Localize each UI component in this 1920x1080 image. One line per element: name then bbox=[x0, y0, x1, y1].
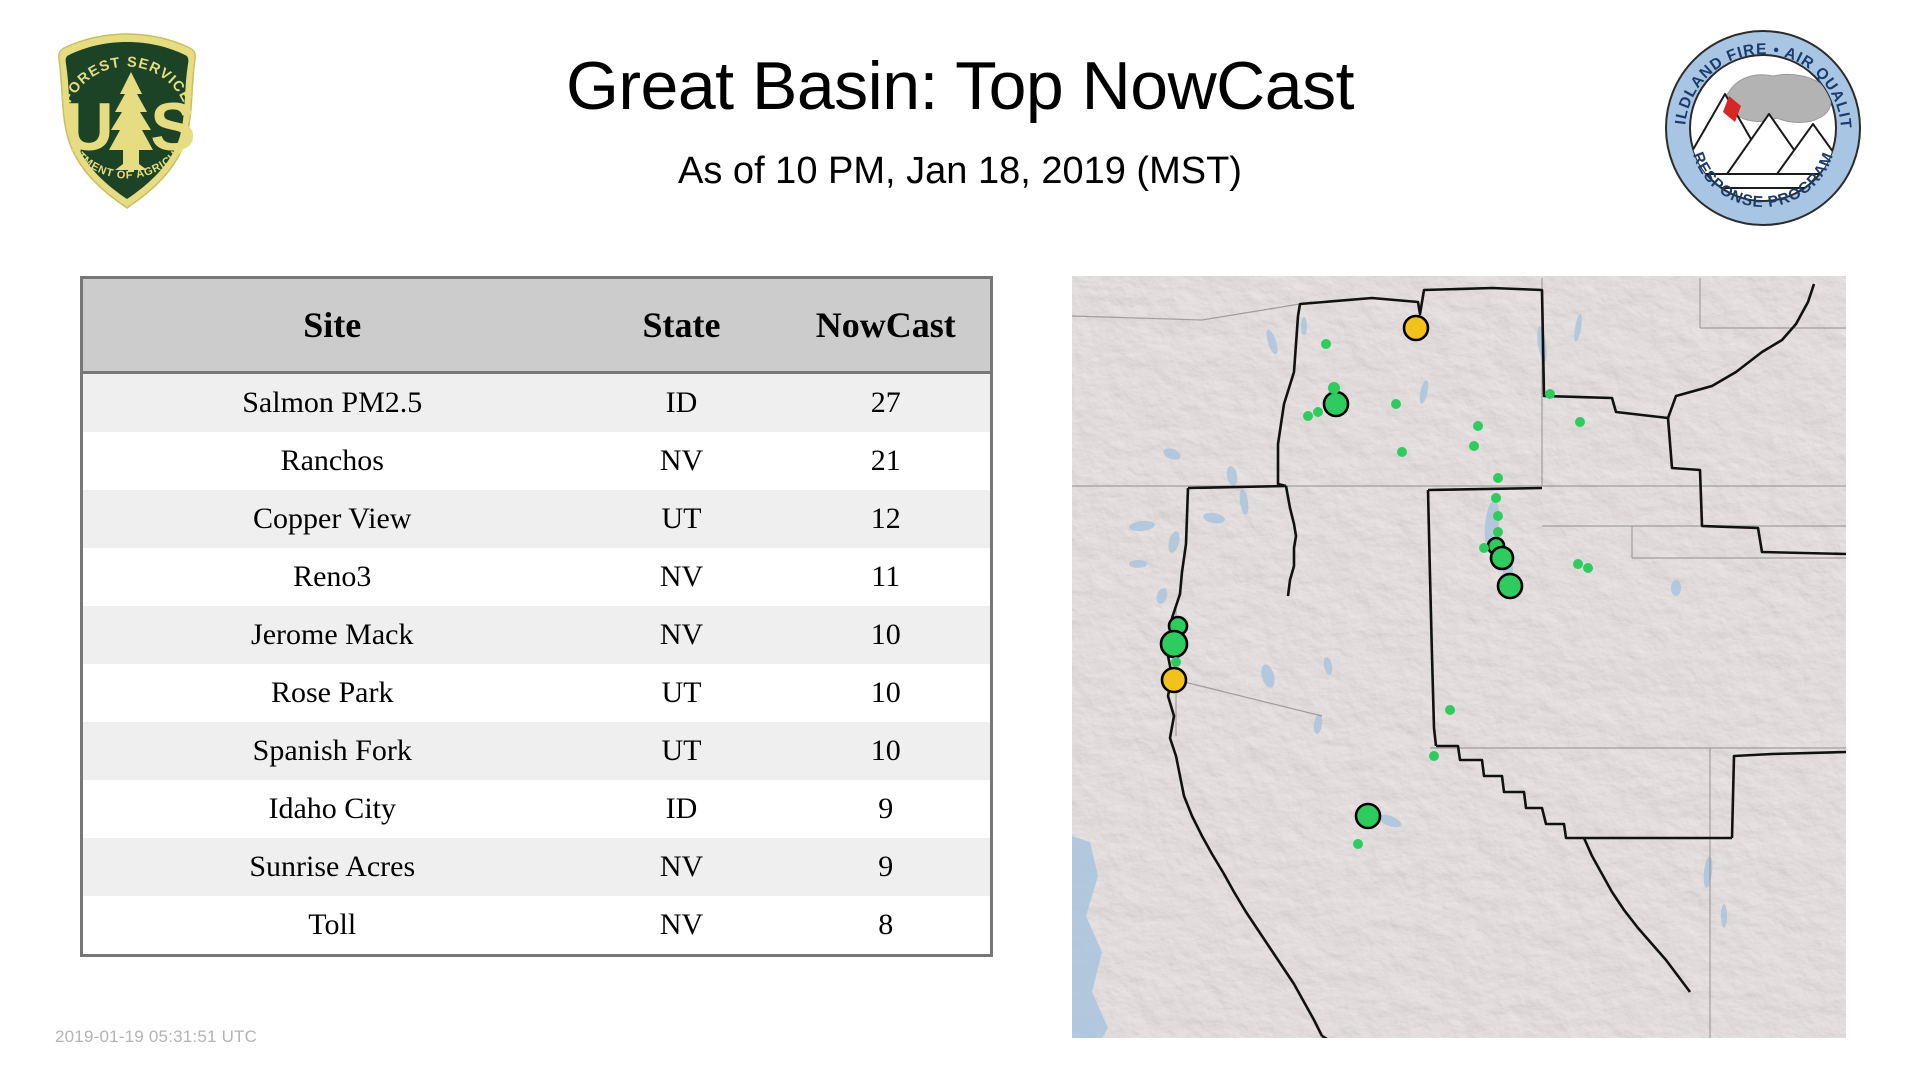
page-subtitle: As of 10 PM, Jan 18, 2019 (MST) bbox=[0, 152, 1920, 190]
monitor-marker-good[interactable] bbox=[1303, 411, 1313, 421]
cell-site: Toll bbox=[82, 896, 582, 956]
cell-nowcast: 10 bbox=[782, 722, 992, 780]
monitor-marker-good[interactable] bbox=[1324, 392, 1348, 416]
table-row: RanchosNV21 bbox=[82, 432, 992, 490]
monitor-marker-good[interactable] bbox=[1491, 547, 1513, 569]
cell-site: Salmon PM2.5 bbox=[82, 373, 582, 433]
table-row: Copper ViewUT12 bbox=[82, 490, 992, 548]
table-row: Idaho CityID9 bbox=[82, 780, 992, 838]
cell-nowcast: 9 bbox=[782, 780, 992, 838]
page-title: Great Basin: Top NowCast bbox=[0, 52, 1920, 120]
cell-nowcast: 8 bbox=[782, 896, 992, 956]
monitor-marker-good[interactable] bbox=[1397, 447, 1407, 457]
cell-state: UT bbox=[582, 722, 782, 780]
column-header-site: Site bbox=[82, 278, 582, 373]
footer-timestamp: 2019-01-19 05:31:51 UTC bbox=[55, 1027, 257, 1047]
great-basin-map[interactable] bbox=[1072, 276, 1846, 1038]
table-row: Salmon PM2.5ID27 bbox=[82, 373, 992, 433]
cell-site: Ranchos bbox=[82, 432, 582, 490]
table-row: TollNV8 bbox=[82, 896, 992, 956]
cell-site: Reno3 bbox=[82, 548, 582, 606]
table-body: Salmon PM2.5ID27RanchosNV21Copper ViewUT… bbox=[82, 373, 992, 956]
monitor-marker-good[interactable] bbox=[1391, 399, 1401, 409]
monitor-marker-good[interactable] bbox=[1493, 473, 1503, 483]
monitor-marker-good[interactable] bbox=[1473, 421, 1483, 431]
cell-state: UT bbox=[582, 490, 782, 548]
monitor-marker-good[interactable] bbox=[1356, 804, 1380, 828]
monitor-marker-moderate[interactable] bbox=[1404, 316, 1428, 340]
monitor-marker-good[interactable] bbox=[1321, 339, 1331, 349]
monitor-marker-good[interactable] bbox=[1498, 574, 1522, 598]
cell-state: NV bbox=[582, 606, 782, 664]
monitor-marker-good[interactable] bbox=[1469, 441, 1479, 451]
cell-nowcast: 27 bbox=[782, 373, 992, 433]
cell-nowcast: 10 bbox=[782, 664, 992, 722]
monitor-marker-moderate[interactable] bbox=[1162, 668, 1186, 692]
cell-state: NV bbox=[582, 838, 782, 896]
cell-nowcast: 11 bbox=[782, 548, 992, 606]
monitor-marker-good[interactable] bbox=[1575, 417, 1585, 427]
table-row: Sunrise AcresNV9 bbox=[82, 838, 992, 896]
map-relief-detail bbox=[1072, 276, 1846, 1038]
monitor-marker-good[interactable] bbox=[1353, 839, 1363, 849]
cell-state: NV bbox=[582, 896, 782, 956]
table-row: Reno3NV11 bbox=[82, 548, 992, 606]
column-header-nowcast: NowCast bbox=[782, 278, 992, 373]
monitor-marker-good[interactable] bbox=[1493, 527, 1503, 537]
cell-site: Spanish Fork bbox=[82, 722, 582, 780]
cell-nowcast: 10 bbox=[782, 606, 992, 664]
nowcast-table-container: Site State NowCast Salmon PM2.5ID27Ranch… bbox=[80, 276, 990, 957]
column-header-state: State bbox=[582, 278, 782, 373]
monitor-marker-good[interactable] bbox=[1445, 705, 1455, 715]
monitor-marker-good[interactable] bbox=[1493, 511, 1503, 521]
cell-site: Copper View bbox=[82, 490, 582, 548]
table-row: Spanish ForkUT10 bbox=[82, 722, 992, 780]
monitor-marker-good[interactable] bbox=[1491, 493, 1501, 503]
cell-site: Jerome Mack bbox=[82, 606, 582, 664]
monitor-marker-good[interactable] bbox=[1545, 389, 1555, 399]
cell-nowcast: 9 bbox=[782, 838, 992, 896]
monitor-marker-good[interactable] bbox=[1429, 751, 1439, 761]
table-row: Rose ParkUT10 bbox=[82, 664, 992, 722]
monitor-marker-good[interactable] bbox=[1313, 407, 1323, 417]
monitor-marker-good[interactable] bbox=[1583, 563, 1593, 573]
map-panel[interactable] bbox=[1072, 276, 1846, 1038]
cell-nowcast: 12 bbox=[782, 490, 992, 548]
cell-state: ID bbox=[582, 780, 782, 838]
table-header-row: Site State NowCast bbox=[82, 278, 992, 373]
cell-state: ID bbox=[582, 373, 782, 433]
cell-state: UT bbox=[582, 664, 782, 722]
cell-state: NV bbox=[582, 548, 782, 606]
monitor-marker-good[interactable] bbox=[1161, 631, 1187, 657]
cell-site: Idaho City bbox=[82, 780, 582, 838]
cell-state: NV bbox=[582, 432, 782, 490]
table-row: Jerome MackNV10 bbox=[82, 606, 992, 664]
nowcast-table: Site State NowCast Salmon PM2.5ID27Ranch… bbox=[80, 276, 993, 957]
cell-nowcast: 21 bbox=[782, 432, 992, 490]
monitor-marker-good[interactable] bbox=[1479, 543, 1489, 553]
monitor-marker-good[interactable] bbox=[1573, 559, 1583, 569]
monitor-marker-good[interactable] bbox=[1328, 382, 1340, 394]
monitor-marker-good[interactable] bbox=[1171, 657, 1181, 667]
cell-site: Rose Park bbox=[82, 664, 582, 722]
cell-site: Sunrise Acres bbox=[82, 838, 582, 896]
